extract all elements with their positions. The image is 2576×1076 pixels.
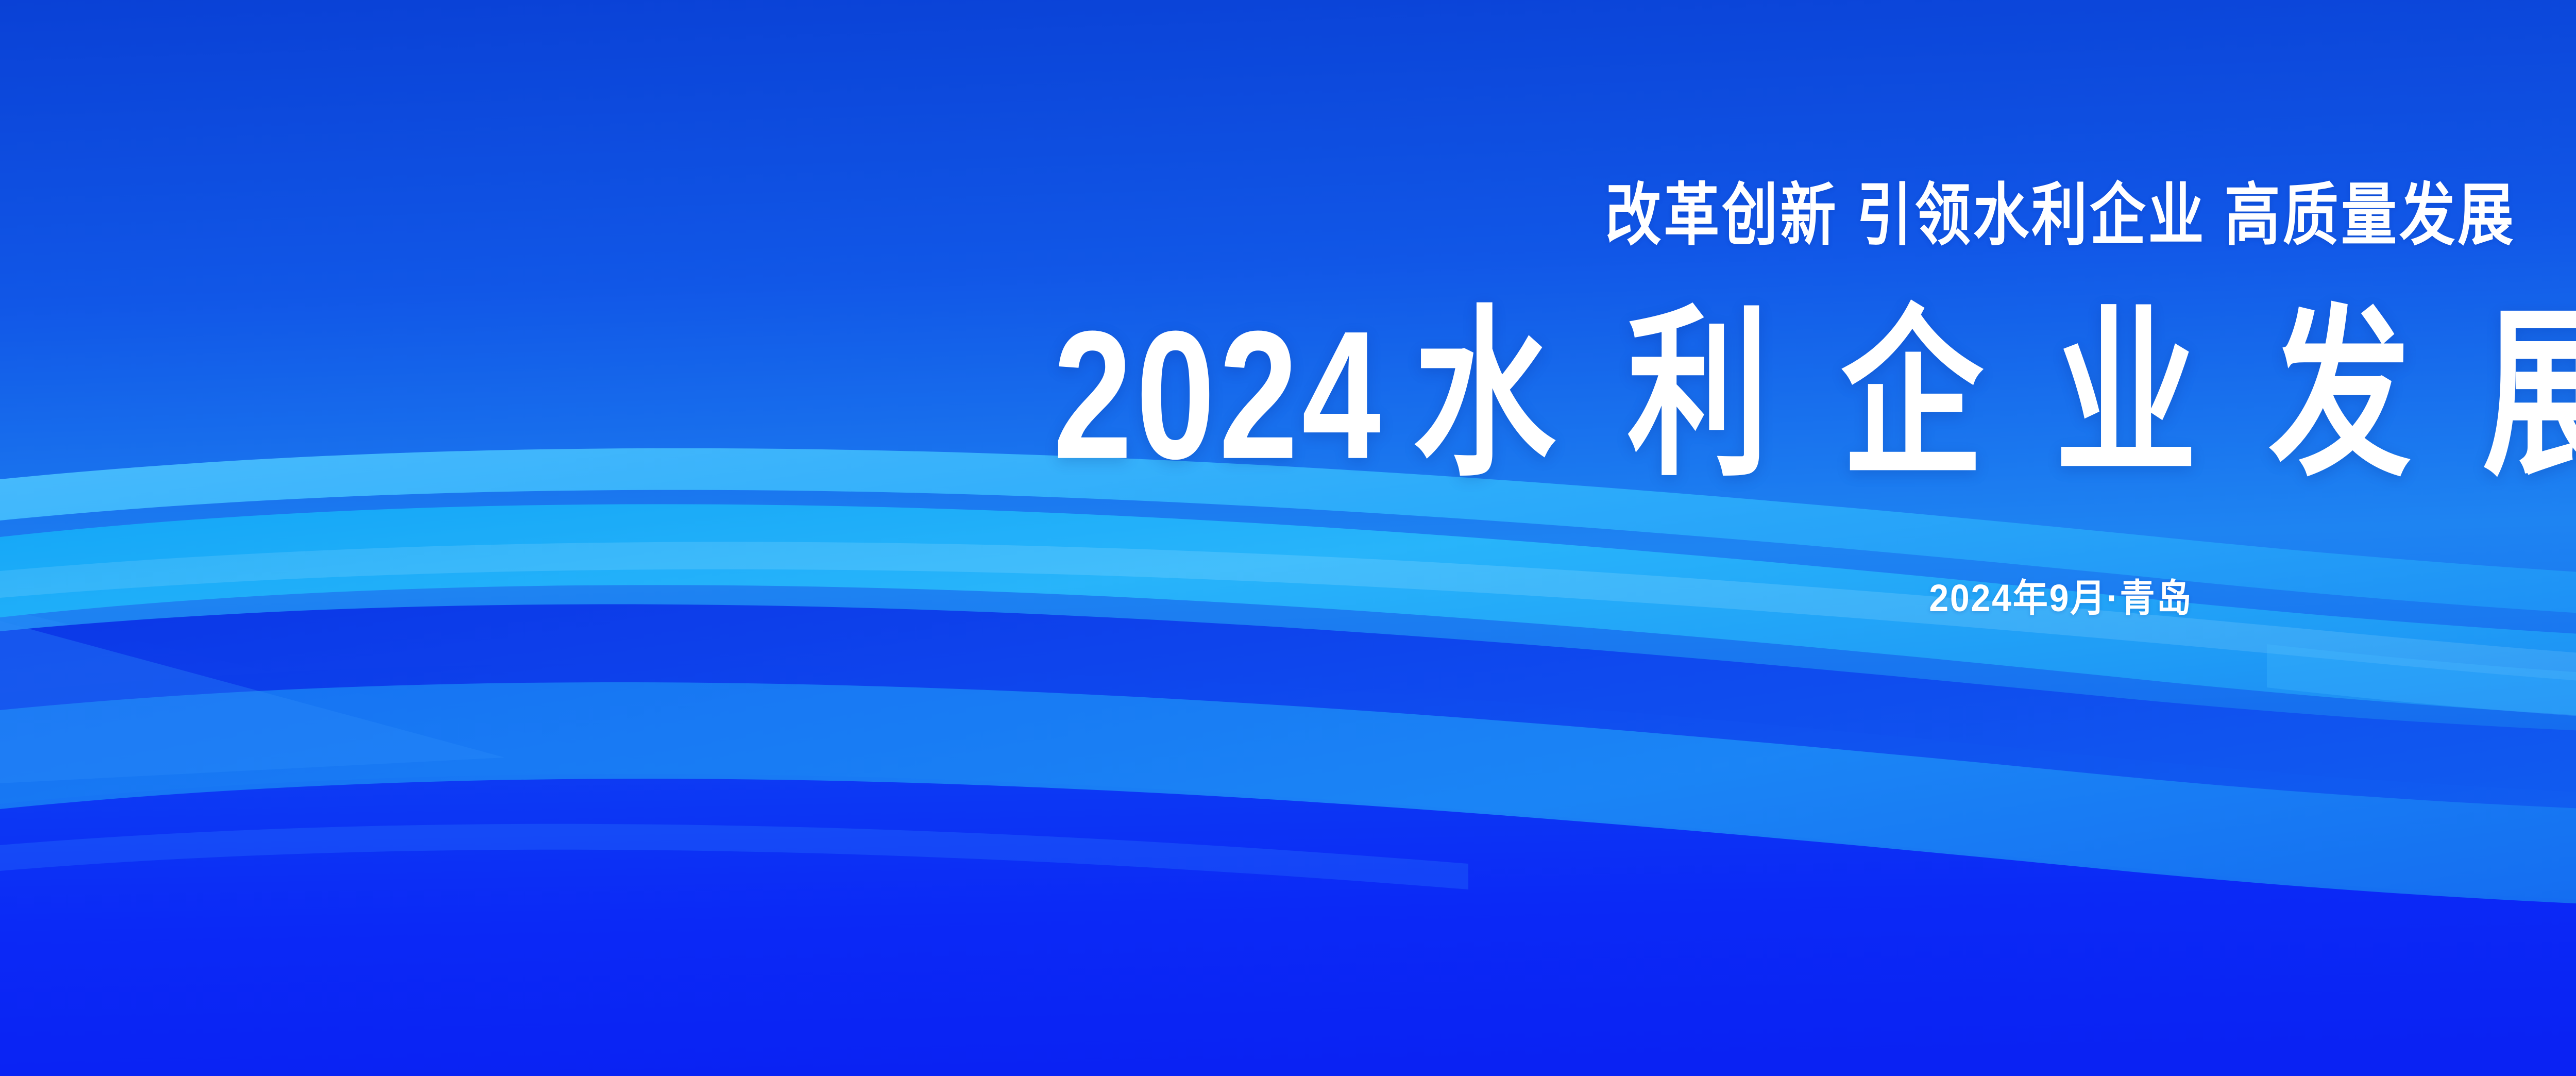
- conference-banner: 改革创新 引领水利企业 高质量发展 2024水 利 企 业 发 展 论 坛 20…: [0, 0, 2576, 1076]
- background-wave-art: [0, 0, 2576, 1076]
